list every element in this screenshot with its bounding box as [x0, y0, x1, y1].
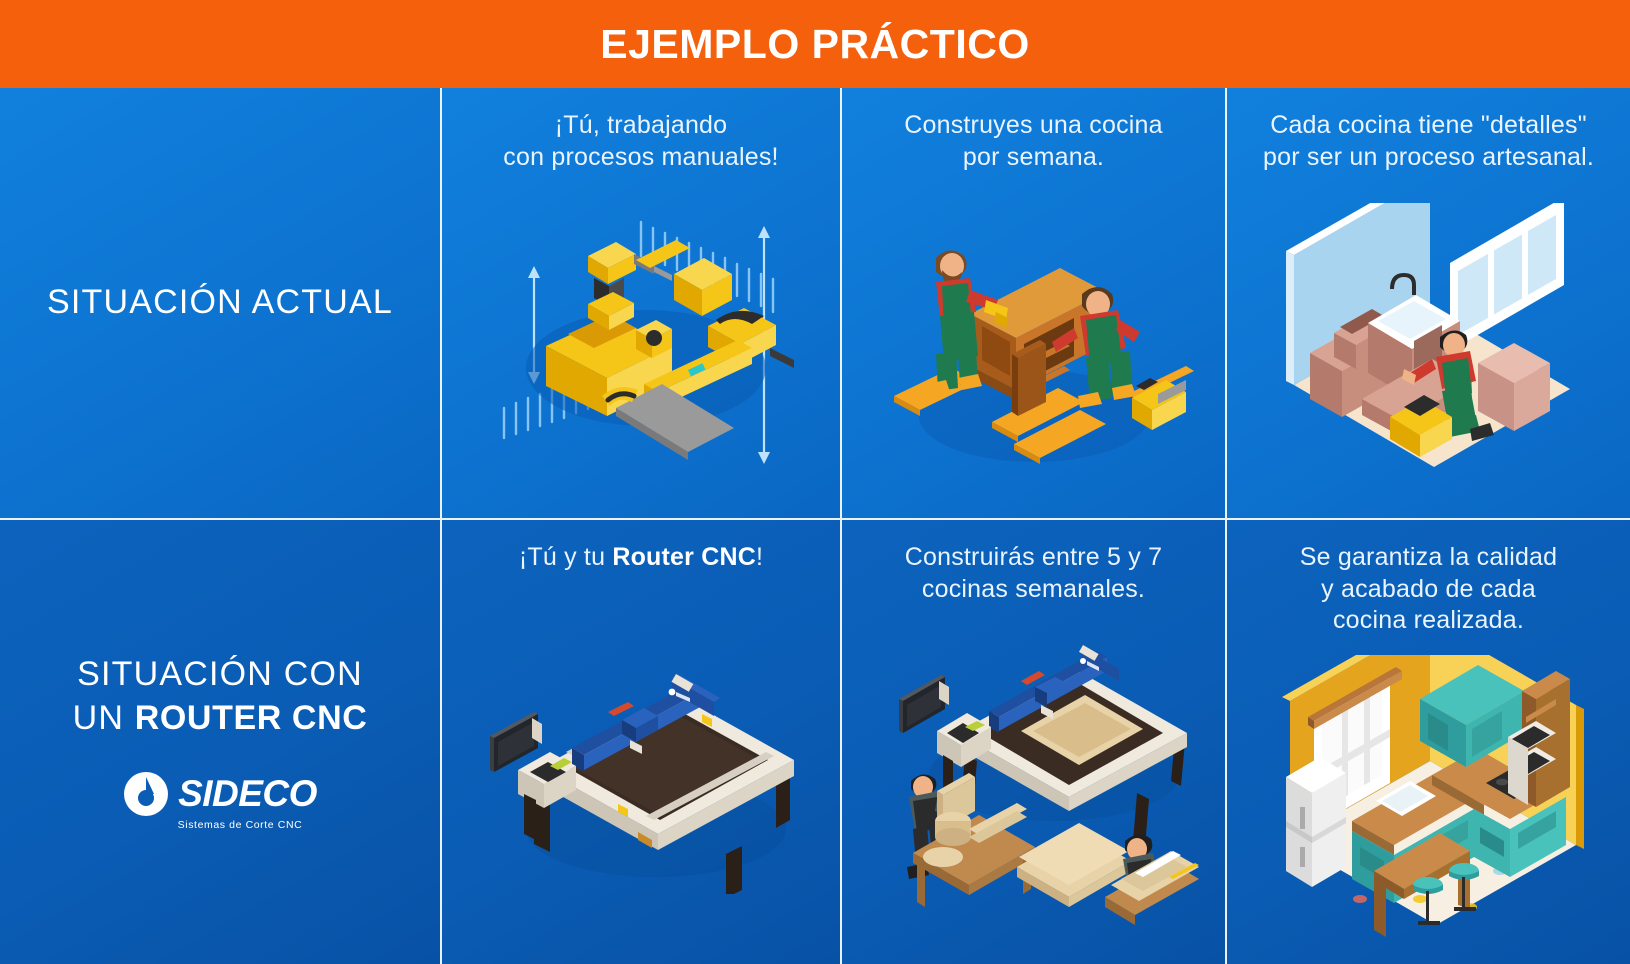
cell-cnc-router-heading-plain: ¡Tú y tu [519, 543, 613, 571]
cell-cnc-workshop: Construirás entre 5 y 7 cocinas semanale… [840, 518, 1225, 964]
cell-tools-heading-line2: con procesos manuales! [503, 143, 778, 171]
cell-cnc-router-heading: ¡Tú y tu Router CNC! [505, 520, 777, 574]
cell-finished-kitchen-illustration [1227, 637, 1630, 964]
cell-carpenters-illustration [842, 173, 1225, 518]
isometric-cnc-router-icon [476, 644, 806, 894]
sideco-logo: SIDECO Sistemas de Corte CNC [123, 771, 317, 831]
cell-carpenters-heading-line2: por semana. [963, 143, 1104, 171]
cell-cnc-router-heading-bold: Router CNC [612, 543, 756, 571]
row-label-text-cnc: SITUACIÓN CON UN ROUTER CNC [73, 653, 368, 740]
cell-cnc-router-illustration [442, 574, 840, 964]
cell-tools-illustration [442, 173, 840, 518]
isometric-finished-kitchen-icon [1264, 655, 1594, 945]
cell-finished-kitchen-heading: Se garantiza la calidad y acabado de cad… [1286, 520, 1572, 637]
cell-carpenters: Construyes una cocina por semana. [840, 88, 1225, 518]
isometric-cnc-workshop-icon [869, 645, 1199, 925]
cell-unfinished-kitchen-heading: Cada cocina tiene "detalles" por ser un … [1249, 88, 1608, 173]
cell-carpenters-heading-line1: Construyes una cocina [904, 111, 1163, 139]
cell-unfinished-kitchen: Cada cocina tiene "detalles" por ser un … [1225, 88, 1630, 518]
isometric-kitchen-installation-icon [1264, 203, 1594, 488]
infographic-root: EJEMPLO PRÁCTICO SITUACIÓN ACTUAL ¡Tú, t… [0, 0, 1630, 964]
cell-unfinished-kitchen-heading-line2: por ser un proceso artesanal. [1263, 143, 1594, 171]
cell-finished-kitchen: Se garantiza la calidad y acabado de cad… [1225, 518, 1630, 964]
cell-cnc-workshop-illustration [842, 605, 1225, 964]
cell-finished-kitchen-heading-line2: y acabado de cada [1321, 575, 1536, 603]
row-label-situacion-actual: SITUACIÓN ACTUAL [0, 88, 440, 518]
isometric-two-carpenters-cabinet-icon [874, 216, 1194, 476]
page-title: EJEMPLO PRÁCTICO [600, 24, 1029, 65]
cell-unfinished-kitchen-illustration [1227, 173, 1630, 518]
sideco-mark-icon [123, 771, 169, 817]
sideco-logo-row: SIDECO [123, 771, 317, 817]
cell-cnc-router: ¡Tú y tu Router CNC! [440, 518, 840, 964]
cell-cnc-router-heading-tail: ! [756, 543, 763, 571]
row-label-line2-plain: UN [73, 699, 135, 737]
comparison-grid: SITUACIÓN ACTUAL ¡Tú, trabajando con pro… [0, 88, 1630, 964]
cell-unfinished-kitchen-heading-line1: Cada cocina tiene "detalles" [1270, 111, 1587, 139]
row-label-line1: SITUACIÓN CON [77, 655, 363, 693]
sideco-wordmark: SIDECO [178, 773, 317, 815]
row-label-text: SITUACIÓN ACTUAL [47, 281, 393, 325]
cell-cnc-workshop-heading-line2: cocinas semanales. [922, 575, 1145, 603]
cell-cnc-workshop-heading: Construirás entre 5 y 7 cocinas semanale… [891, 520, 1177, 605]
cell-tools: ¡Tú, trabajando con procesos manuales! [440, 88, 840, 518]
row-label-line2-bold: ROUTER CNC [135, 699, 368, 737]
isometric-hand-tools-icon [476, 208, 806, 483]
header-banner: EJEMPLO PRÁCTICO [0, 0, 1630, 88]
cell-finished-kitchen-heading-line1: Se garantiza la calidad [1300, 543, 1558, 571]
sideco-tagline: Sistemas de Corte CNC [178, 819, 303, 831]
cell-finished-kitchen-heading-line3: cocina realizada. [1333, 606, 1524, 634]
cell-cnc-workshop-heading-line1: Construirás entre 5 y 7 [905, 543, 1163, 571]
row-label-situacion-router-cnc: SITUACIÓN CON UN ROUTER CNC SIDECO Siste… [0, 518, 440, 964]
cell-tools-heading-line1: ¡Tú, trabajando [555, 111, 728, 139]
cell-carpenters-heading: Construyes una cocina por semana. [890, 88, 1177, 173]
cell-tools-heading: ¡Tú, trabajando con procesos manuales! [489, 88, 792, 173]
